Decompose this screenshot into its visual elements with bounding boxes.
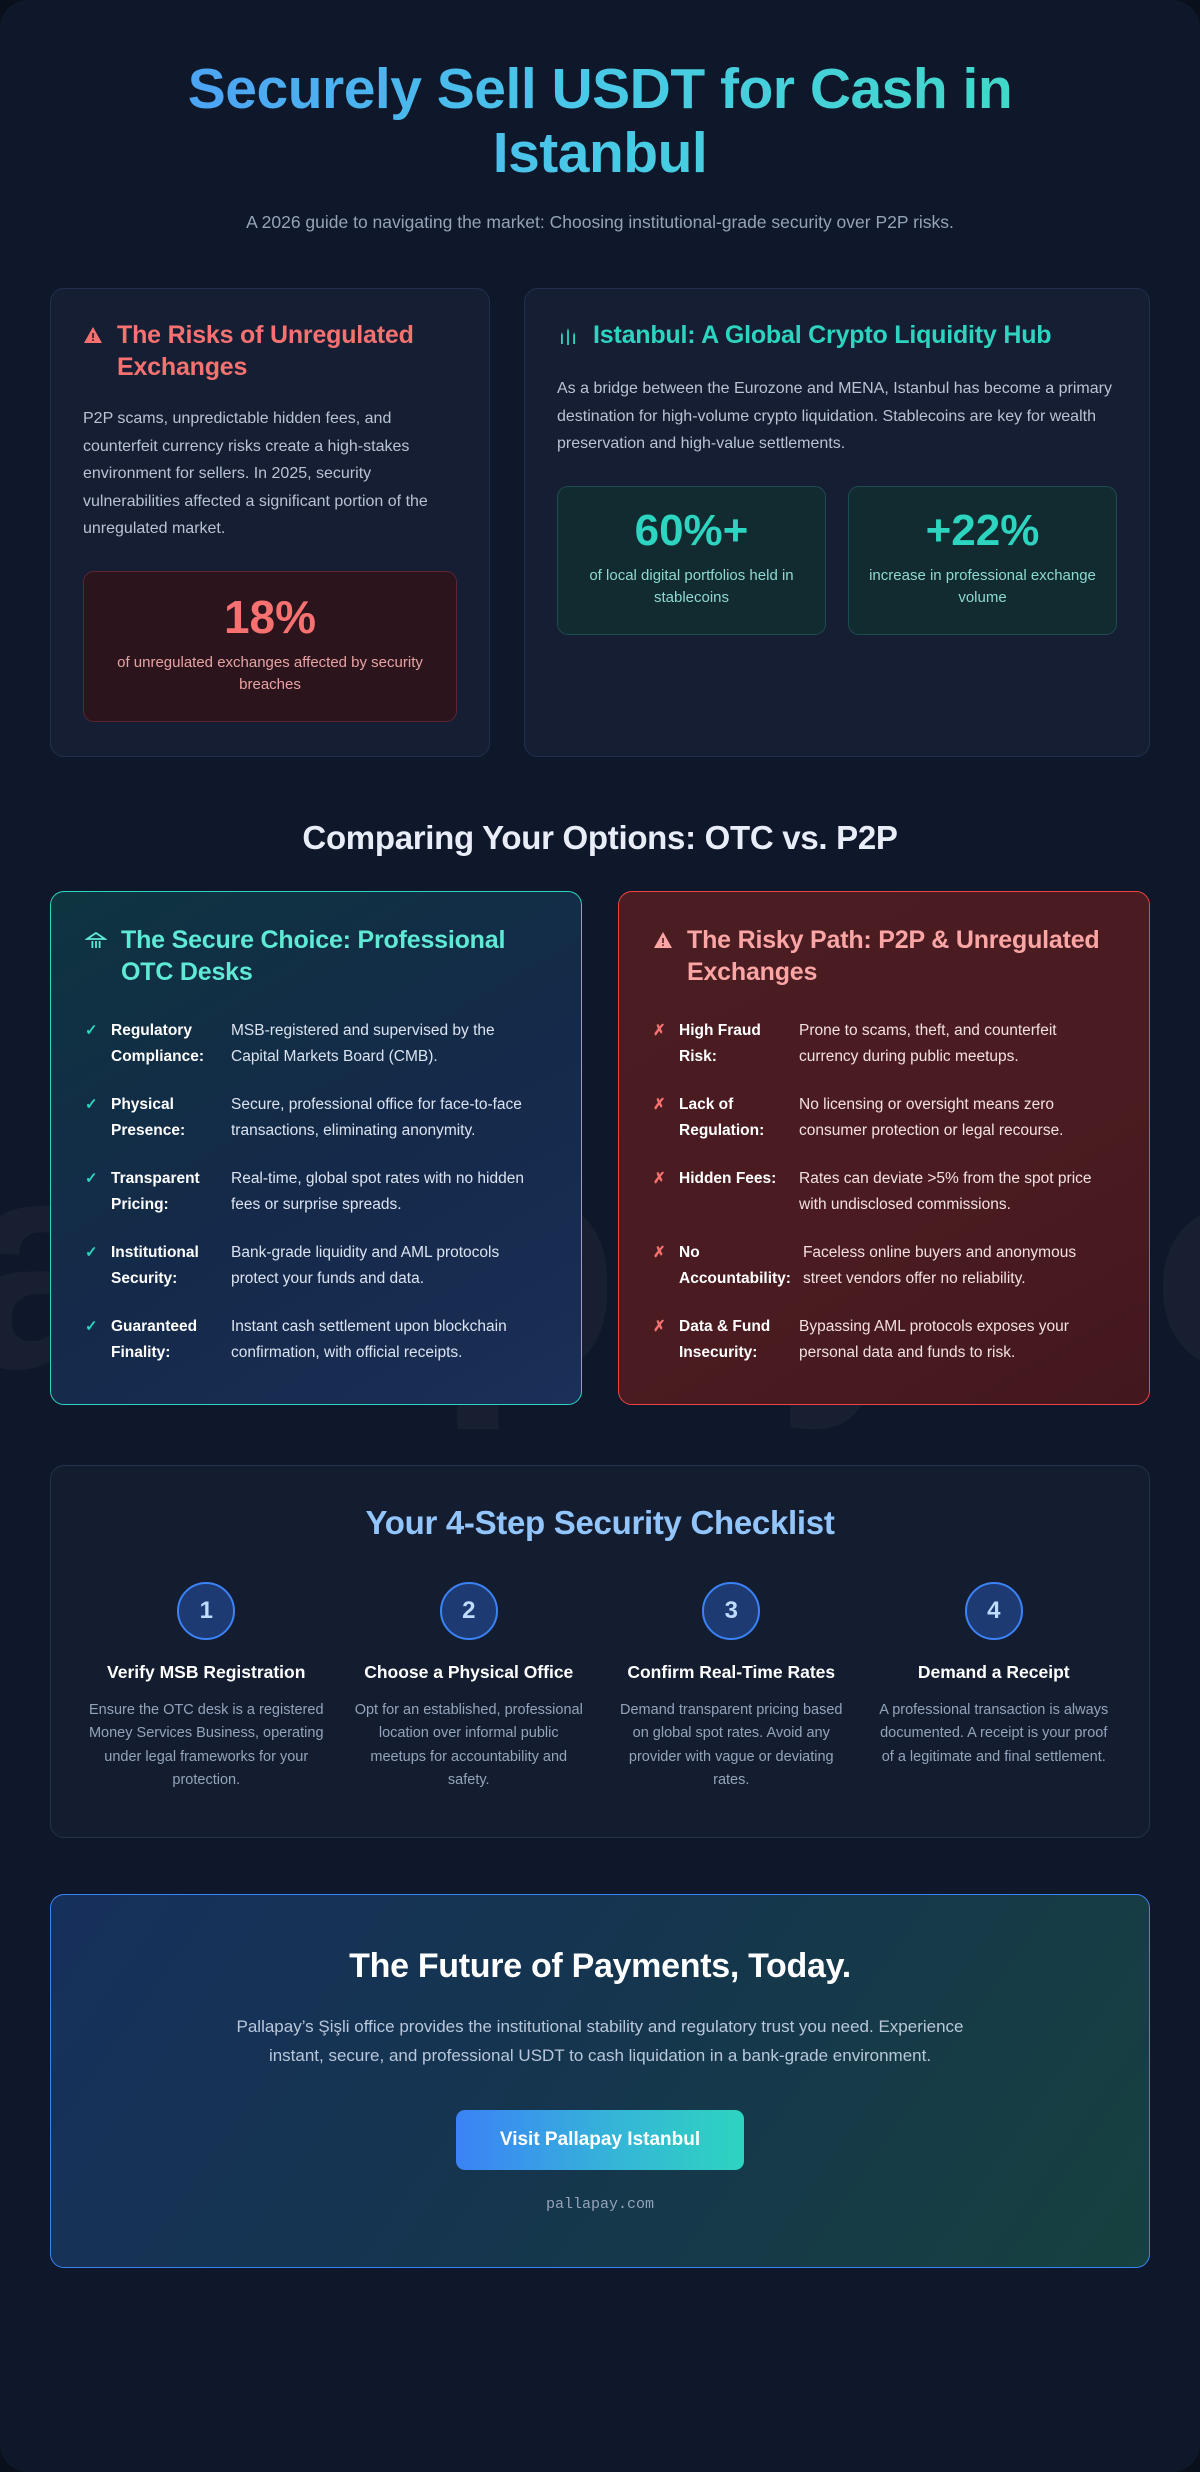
risk-desc: Faceless online buyers and anonymous str… [803, 1240, 1115, 1292]
risk-desc: Rates can deviate >5% from the spot pric… [799, 1166, 1115, 1218]
feature-term: Regulatory Compliance: [111, 1018, 219, 1070]
security-checklist-section: Your 4-Step Security Checklist 1 Verify … [50, 1465, 1150, 1838]
otc-desks-card: The Secure Choice: Professional OTC Desk… [50, 891, 582, 1405]
risk-desc: Bypassing AML protocols exposes your per… [799, 1314, 1115, 1366]
hub-stat-label: of local digital portfolios held in stab… [572, 565, 811, 610]
step-number-badge: 1 [177, 1582, 235, 1640]
cross-icon: ✗ [653, 1092, 667, 1117]
feature-desc: Secure, professional office for face-to-… [231, 1092, 547, 1144]
cta-body: Pallapay’s Şişli office provides the ins… [220, 2012, 980, 2070]
p2p-card-title: The Risky Path: P2P & Unregulated Exchan… [687, 924, 1115, 988]
feature-term: Guaranteed Finality: [111, 1314, 219, 1366]
risk-term: No Accountability: [679, 1240, 791, 1292]
warning-triangle-icon [83, 326, 103, 349]
check-icon: ✓ [85, 1166, 99, 1191]
warning-triangle-icon [653, 931, 673, 954]
list-item: ✓ Regulatory Compliance: MSB-registered … [85, 1018, 547, 1070]
hub-card-title: Istanbul: A Global Crypto Liquidity Hub [593, 319, 1051, 351]
checklist-step: 2 Choose a Physical Office Opt for an es… [350, 1582, 589, 1793]
feature-term: Physical Presence: [111, 1092, 219, 1144]
step-number-badge: 3 [702, 1582, 760, 1640]
checklist-heading: Your 4-Step Security Checklist [87, 1504, 1113, 1542]
p2p-card-header: The Risky Path: P2P & Unregulated Exchan… [653, 924, 1115, 988]
risk-desc: Prone to scams, theft, and counterfeit c… [799, 1018, 1115, 1070]
otc-feature-list: ✓ Regulatory Compliance: MSB-registered … [85, 1018, 547, 1366]
hub-card-body: As a bridge between the Eurozone and MEN… [557, 375, 1117, 458]
hub-card: Istanbul: A Global Crypto Liquidity Hub … [524, 288, 1150, 757]
hub-stat-value: +22% [863, 509, 1102, 553]
risk-term: Hidden Fees: [679, 1166, 787, 1192]
p2p-risk-card: The Risky Path: P2P & Unregulated Exchan… [618, 891, 1150, 1405]
list-item: ✗ Hidden Fees: Rates can deviate >5% fro… [653, 1166, 1115, 1218]
list-item: ✗ Data & Fund Insecurity: Bypassing AML … [653, 1314, 1115, 1366]
checklist-step: 3 Confirm Real-Time Rates Demand transpa… [612, 1582, 851, 1793]
p2p-risk-list: ✗ High Fraud Risk: Prone to scams, theft… [653, 1018, 1115, 1366]
hub-stat-value: 60%+ [572, 509, 811, 553]
step-desc: A professional transaction is always doc… [875, 1699, 1114, 1769]
step-desc: Ensure the OTC desk is a registered Mone… [87, 1699, 326, 1793]
step-number-badge: 2 [440, 1582, 498, 1640]
cross-icon: ✗ [653, 1314, 667, 1339]
risks-stat-value: 18% [100, 594, 440, 640]
list-item: ✗ High Fraud Risk: Prone to scams, theft… [653, 1018, 1115, 1070]
risks-card-header: The Risks of Unregulated Exchanges [83, 319, 457, 383]
list-item: ✓ Physical Presence: Secure, professiona… [85, 1092, 547, 1144]
risks-stat-box: 18% of unregulated exchanges affected by… [83, 571, 457, 722]
page-subtitle: A 2026 guide to navigating the market: C… [160, 208, 1040, 236]
compare-heading: Comparing Your Options: OTC vs. P2P [50, 819, 1150, 857]
hub-stat-box: 60%+ of local digital portfolios held in… [557, 486, 826, 635]
cta-section: The Future of Payments, Today. Pallapay’… [50, 1894, 1150, 2268]
step-title: Choose a Physical Office [350, 1660, 589, 1685]
cross-icon: ✗ [653, 1240, 667, 1265]
hub-stat-box: +22% increase in professional exchange v… [848, 486, 1117, 635]
list-item: ✓ Transparent Pricing: Real-time, global… [85, 1166, 547, 1218]
minaret-skyline-icon [557, 326, 579, 353]
check-icon: ✓ [85, 1240, 99, 1265]
check-icon: ✓ [85, 1018, 99, 1043]
step-desc: Opt for an established, professional loc… [350, 1699, 589, 1793]
list-item: ✗ Lack of Regulation: No licensing or ov… [653, 1092, 1115, 1144]
compare-row: The Secure Choice: Professional OTC Desk… [50, 891, 1150, 1405]
intro-cards-row: The Risks of Unregulated Exchanges P2P s… [50, 288, 1150, 757]
risks-card-body: P2P scams, unpredictable hidden fees, an… [83, 405, 457, 543]
feature-desc: MSB-registered and supervised by the Cap… [231, 1018, 547, 1070]
checklist-step: 4 Demand a Receipt A professional transa… [875, 1582, 1114, 1793]
feature-desc: Real-time, global spot rates with no hid… [231, 1166, 547, 1218]
checklist-steps: 1 Verify MSB Registration Ensure the OTC… [87, 1582, 1113, 1793]
step-title: Verify MSB Registration [87, 1660, 326, 1685]
step-number-badge: 4 [965, 1582, 1023, 1640]
risk-term: Lack of Regulation: [679, 1092, 787, 1144]
feature-desc: Bank-grade liquidity and AML protocols p… [231, 1240, 547, 1292]
visit-pallapay-button[interactable]: Visit Pallapay Istanbul [456, 2110, 744, 2170]
check-icon: ✓ [85, 1092, 99, 1117]
risks-card-title: The Risks of Unregulated Exchanges [117, 319, 457, 383]
page-title: Securely Sell USDT for Cash in Istanbul [110, 58, 1090, 186]
hub-stat-label: increase in professional exchange volume [863, 565, 1102, 610]
list-item: ✓ Guaranteed Finality: Instant cash sett… [85, 1314, 547, 1366]
cross-icon: ✗ [653, 1166, 667, 1191]
step-title: Demand a Receipt [875, 1660, 1114, 1685]
risk-term: High Fraud Risk: [679, 1018, 787, 1070]
feature-desc: Instant cash settlement upon blockchain … [231, 1314, 547, 1366]
step-desc: Demand transparent pricing based on glob… [612, 1699, 851, 1793]
feature-term: Institutional Security: [111, 1240, 219, 1292]
bank-building-icon [85, 931, 107, 956]
infographic-page: allapay.co Securely Sell USDT for Cash i… [0, 0, 1200, 2472]
risk-term: Data & Fund Insecurity: [679, 1314, 787, 1366]
page-header: Securely Sell USDT for Cash in Istanbul … [50, 30, 1150, 246]
feature-term: Transparent Pricing: [111, 1166, 219, 1218]
risks-card: The Risks of Unregulated Exchanges P2P s… [50, 288, 490, 757]
checklist-step: 1 Verify MSB Registration Ensure the OTC… [87, 1582, 326, 1793]
list-item: ✓ Institutional Security: Bank-grade liq… [85, 1240, 547, 1292]
site-domain: pallapay.com [111, 2196, 1089, 2213]
otc-card-header: The Secure Choice: Professional OTC Desk… [85, 924, 547, 988]
hub-stats-row: 60%+ of local digital portfolios held in… [557, 486, 1117, 635]
risks-stat-label: of unregulated exchanges affected by sec… [100, 652, 440, 697]
cross-icon: ✗ [653, 1018, 667, 1043]
step-title: Confirm Real-Time Rates [612, 1660, 851, 1685]
cta-title: The Future of Payments, Today. [111, 1947, 1089, 1986]
list-item: ✗ No Accountability: Faceless online buy… [653, 1240, 1115, 1292]
hub-card-header: Istanbul: A Global Crypto Liquidity Hub [557, 319, 1117, 353]
risk-desc: No licensing or oversight means zero con… [799, 1092, 1115, 1144]
check-icon: ✓ [85, 1314, 99, 1339]
otc-card-title: The Secure Choice: Professional OTC Desk… [121, 924, 547, 988]
